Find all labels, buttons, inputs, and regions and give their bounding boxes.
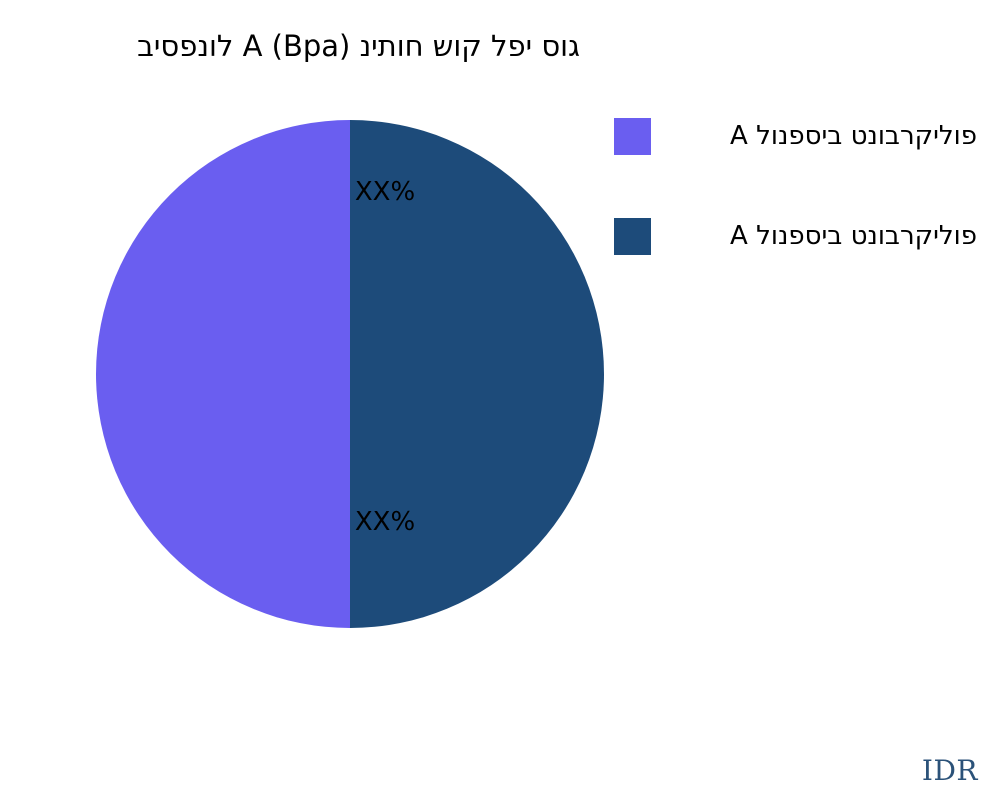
watermark-idr: IDR (922, 754, 978, 787)
legend-color-swatch (614, 118, 651, 155)
chart-title: גוס יפל קוש חותינ (Bpa) A לונפסיב (20, 24, 580, 68)
legend-item-0[interactable]: פוליקרבונט ביספנול A (610, 112, 982, 149)
legend: פוליקרבונט ביספנול A פוליקרבונט ביספנול … (610, 112, 982, 249)
pie-slice-0[interactable] (96, 120, 350, 628)
legend-item-1[interactable]: פוליקרבונט ביספנול A (610, 212, 982, 249)
legend-color-swatch (614, 218, 651, 255)
pie-slice-label-bottom: XX% (355, 507, 415, 537)
pie-svg (96, 120, 604, 628)
legend-item-label: פוליקרבונט ביספנול A (730, 212, 977, 261)
pie-chart: XX% XX% (96, 120, 604, 628)
legend-item-label: פוליקרבונט ביספנול A (730, 112, 977, 161)
pie-slice-label-top: XX% (355, 177, 415, 207)
